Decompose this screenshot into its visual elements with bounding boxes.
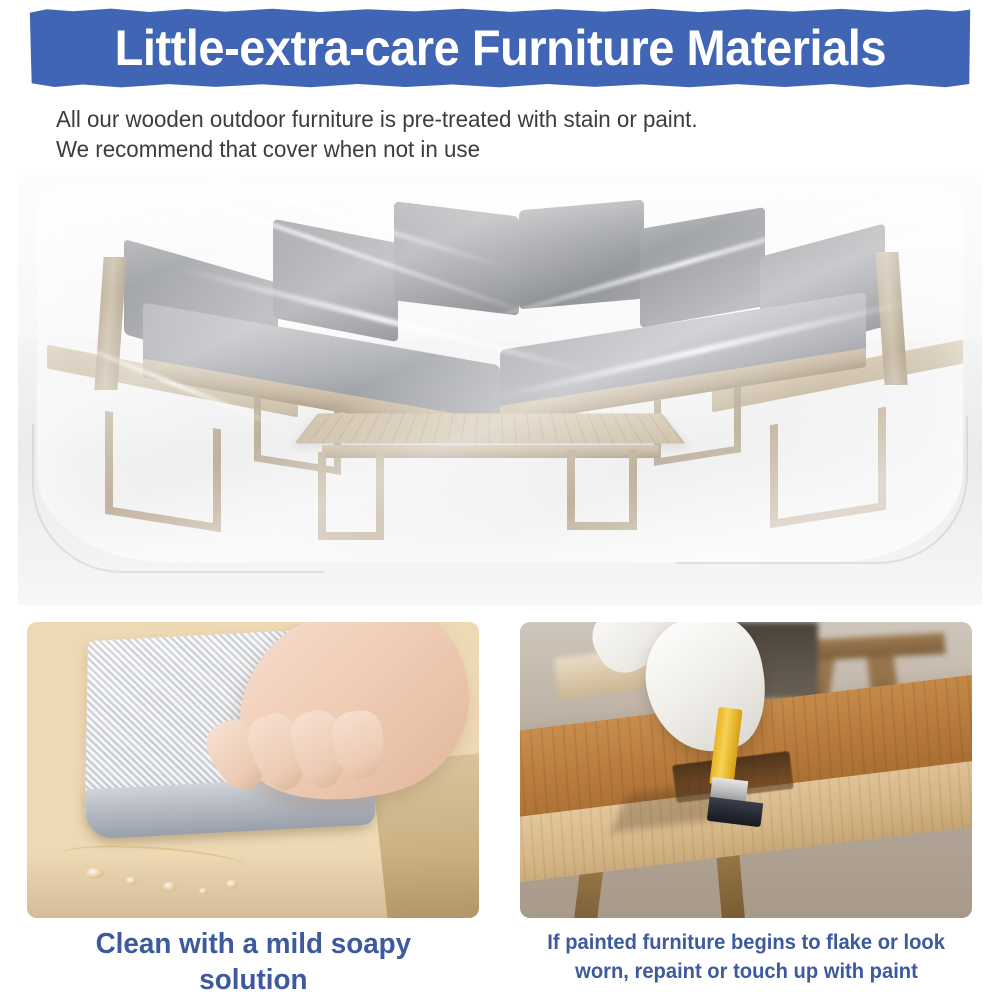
coffee-table-top xyxy=(295,413,687,443)
header-banner: Little-extra-care Furniture Materials xyxy=(26,8,974,88)
caption-clean: Clean with a mild soapy solution xyxy=(27,926,479,998)
hero-furniture-image xyxy=(18,175,982,605)
subtitle-line-2: We recommend that cover when not in use xyxy=(56,134,956,164)
caption-repaint-line-2: worn, repaint or touch up with paint xyxy=(520,957,972,986)
back-cushion-left-2 xyxy=(273,219,398,342)
coffee-table xyxy=(307,403,673,566)
page-title-text: Little-extra-care Furniture Materials xyxy=(114,23,885,73)
sofa-leg-front-right xyxy=(770,407,886,529)
photo-repaint-or-touch-up xyxy=(520,622,972,918)
coffee-table-leg-right xyxy=(567,449,637,531)
subtitle-line-1: All our wooden outdoor furniture is pre-… xyxy=(56,104,956,134)
caption-repaint: If painted furniture begins to flake or … xyxy=(520,928,972,986)
water-droplet-5 xyxy=(226,880,238,889)
photo-clean-with-soapy-solution xyxy=(27,622,479,918)
sectional-sofa xyxy=(18,175,982,605)
coffee-table-leg-left xyxy=(318,452,384,540)
subtitle-block: All our wooden outdoor furniture is pre-… xyxy=(56,104,956,164)
sofa-leg-front-left xyxy=(105,411,221,533)
caption-clean-line-1: Clean with a mild soapy xyxy=(27,926,479,962)
back-cushion-right-2 xyxy=(640,207,765,328)
water-droplet-2 xyxy=(126,877,137,885)
back-cushion-left-3 xyxy=(394,202,519,316)
back-cushion-right-1 xyxy=(519,200,644,310)
page-title: Little-extra-care Furniture Materials xyxy=(26,23,974,73)
caption-repaint-line-1: If painted furniture begins to flake or … xyxy=(520,928,972,957)
caption-clean-line-2: solution xyxy=(27,962,479,998)
